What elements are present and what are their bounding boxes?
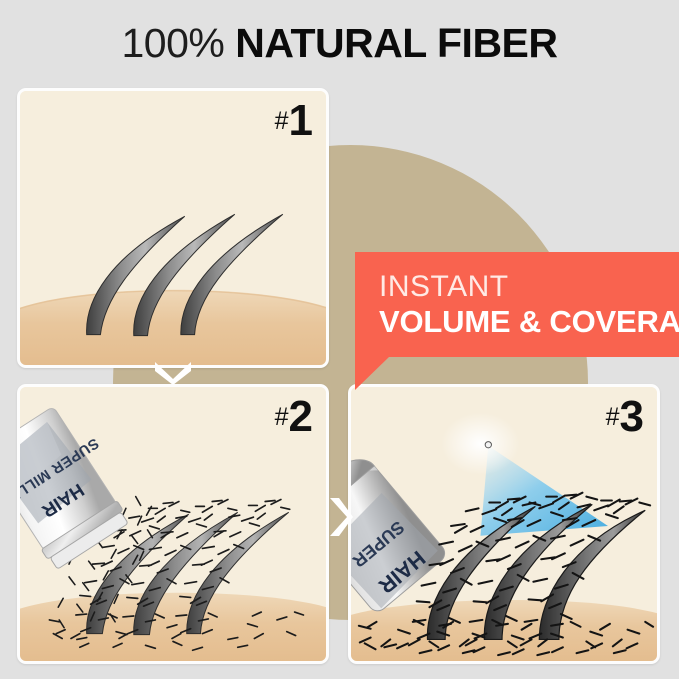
panel-2-digit: 2 bbox=[289, 392, 312, 441]
panel-2-number: #2 bbox=[275, 395, 312, 439]
infographic-root: 100% NATURAL FIBER bbox=[0, 0, 679, 679]
step-panel-2: SUPER MILLION HAIR #2 bbox=[17, 384, 329, 664]
panel-1-digit: 1 bbox=[289, 96, 312, 145]
callout-banner: INSTANT VOLUME & COVERAGE bbox=[355, 252, 679, 357]
callout-line-2: VOLUME & COVERAGE bbox=[379, 304, 671, 339]
step-panel-1: #1 bbox=[17, 88, 329, 368]
page-title-light: 100% bbox=[121, 20, 224, 66]
panel-1-hash: # bbox=[275, 107, 289, 135]
chevron-right-icon bbox=[327, 495, 353, 539]
panel-3-hash: # bbox=[606, 403, 620, 431]
page-title-bold: NATURAL FIBER bbox=[235, 20, 557, 66]
callout-text: INSTANT VOLUME & COVERAGE bbox=[379, 270, 671, 339]
chevron-down-icon bbox=[152, 359, 194, 385]
callout-line-1: INSTANT bbox=[379, 270, 671, 304]
panel-3-digit: 3 bbox=[620, 392, 643, 441]
step-panel-3: SUPER HAIR #3 bbox=[348, 384, 660, 664]
page-title: 100% NATURAL FIBER bbox=[0, 20, 679, 66]
panel-1-number: #1 bbox=[275, 99, 312, 143]
panel-2-hash: # bbox=[275, 403, 289, 431]
panel-3-number: #3 bbox=[606, 395, 643, 439]
